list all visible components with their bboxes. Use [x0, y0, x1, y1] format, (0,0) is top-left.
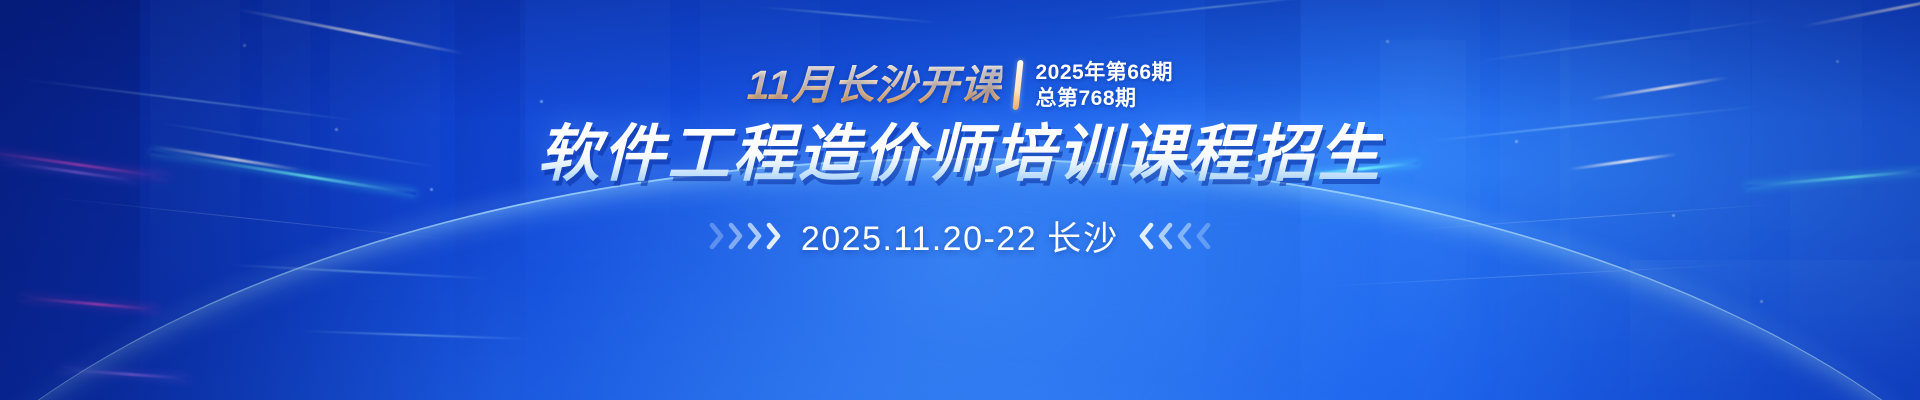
left-chevron-group: [709, 221, 783, 251]
chevron-right-icon: [709, 221, 726, 251]
promo-banner: 11月长沙开课 2025年第66期 总第768期 软件工程造价师培训课程招生: [0, 0, 1920, 400]
vertical-divider-icon: [1013, 60, 1024, 110]
issue-line-secondary: 总第768期: [1035, 88, 1173, 110]
issue-line-primary: 2025年第66期: [1035, 62, 1173, 84]
banner-content: 11月长沙开课 2025年第66期 总第768期 软件工程造价师培训课程招生: [0, 0, 1920, 400]
chevron-right-icon: [728, 221, 745, 251]
chevron-left-icon: [1194, 221, 1211, 251]
issue-badge: 2025年第66期 总第768期: [1035, 60, 1173, 110]
right-chevron-group: [1137, 221, 1211, 251]
event-date-label: 2025.11.20-22长沙: [801, 211, 1119, 260]
date-location-row: 2025.11.20-22长沙: [709, 211, 1211, 260]
chevron-right-icon: [766, 221, 783, 251]
event-date: 2025.11.20-22: [801, 220, 1037, 258]
chevron-left-icon: [1156, 221, 1173, 251]
chevron-left-icon: [1137, 221, 1154, 251]
page-title: 软件工程造价师培训课程招生: [537, 120, 1382, 189]
chevron-right-icon: [747, 221, 764, 251]
chevron-left-icon: [1175, 221, 1192, 251]
eyebrow-headline: 11月长沙开课: [746, 65, 1002, 106]
event-city: 长沙: [1047, 220, 1119, 258]
eyebrow-row: 11月长沙开课 2025年第66期 总第768期: [747, 56, 1173, 114]
